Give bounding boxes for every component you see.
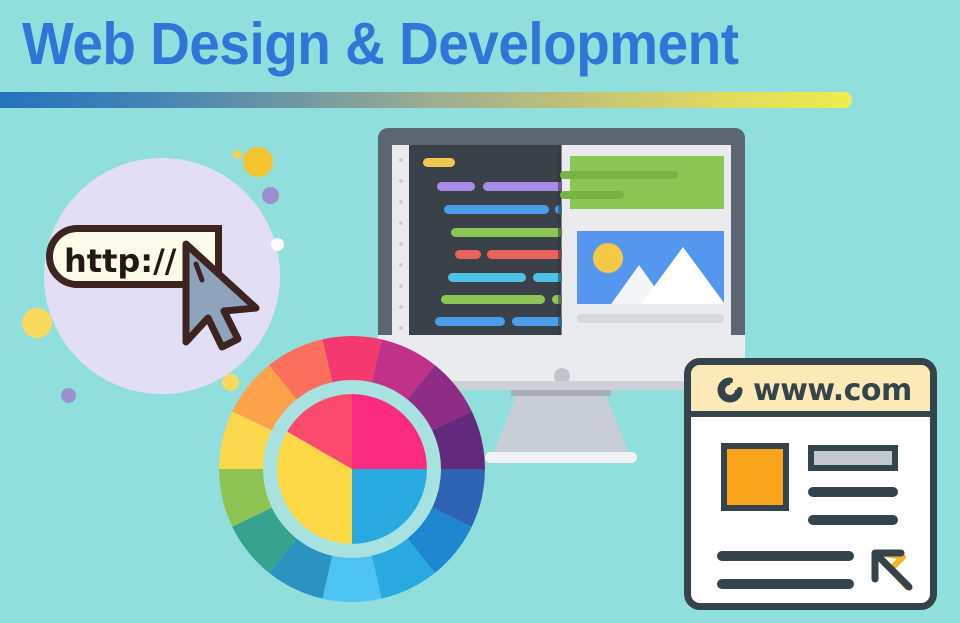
content-heading-box (808, 445, 898, 471)
gutter-marker (399, 158, 403, 162)
purple-dot-upper (262, 187, 279, 204)
content-text-line (808, 487, 898, 497)
content-text-line (717, 579, 854, 589)
white-dot (271, 238, 284, 251)
yellow-dot-large (243, 147, 273, 177)
gutter-marker (399, 200, 403, 204)
code-line (423, 158, 455, 167)
gutter-marker (399, 305, 403, 309)
gutter-marker (399, 263, 403, 267)
preview-banner-block (570, 156, 724, 209)
code-line (444, 205, 549, 214)
page-title: Web Design & Development (22, 14, 739, 76)
gradient-divider (0, 92, 852, 108)
yellow-dot-small (233, 150, 242, 159)
refresh-icon[interactable] (717, 377, 743, 403)
code-editor-pane (409, 145, 561, 335)
arrow-cursor-icon (865, 545, 917, 597)
code-line (441, 295, 545, 304)
content-text-line (717, 551, 854, 561)
gutter-marker (399, 242, 403, 246)
monitor-stand (493, 396, 629, 454)
preview-image-placeholder (577, 231, 724, 304)
preview-footer-bar (577, 314, 724, 323)
gutter-marker (399, 221, 403, 225)
monitor-stand-neck (511, 390, 611, 396)
browser-url-text: www.com (753, 373, 912, 408)
gutter-marker (399, 326, 403, 330)
yellow-dot-left (22, 308, 52, 338)
url-badge-text: http:// (64, 242, 176, 280)
yellow-dot-center (222, 374, 239, 391)
preview-banner-line-1 (560, 171, 678, 179)
content-text-line (717, 607, 854, 610)
color-wheel-inner[interactable] (277, 394, 427, 544)
browser-window-card[interactable]: www.com (684, 358, 937, 610)
preview-banner-line-2 (560, 191, 624, 199)
code-line (437, 182, 475, 191)
mountain-large-icon (639, 247, 724, 304)
arrow-cursor-icon (178, 238, 264, 353)
code-line (448, 273, 526, 282)
gutter-marker (399, 284, 403, 288)
content-thumbnail (721, 443, 789, 511)
content-text-line (808, 515, 898, 525)
monitor-base (485, 452, 637, 463)
illustration-canvas: Web Design & Development http:// (0, 0, 960, 623)
purple-dot-lower (61, 388, 76, 403)
code-line (455, 250, 481, 259)
gutter-marker (399, 179, 403, 183)
code-line (435, 317, 505, 326)
